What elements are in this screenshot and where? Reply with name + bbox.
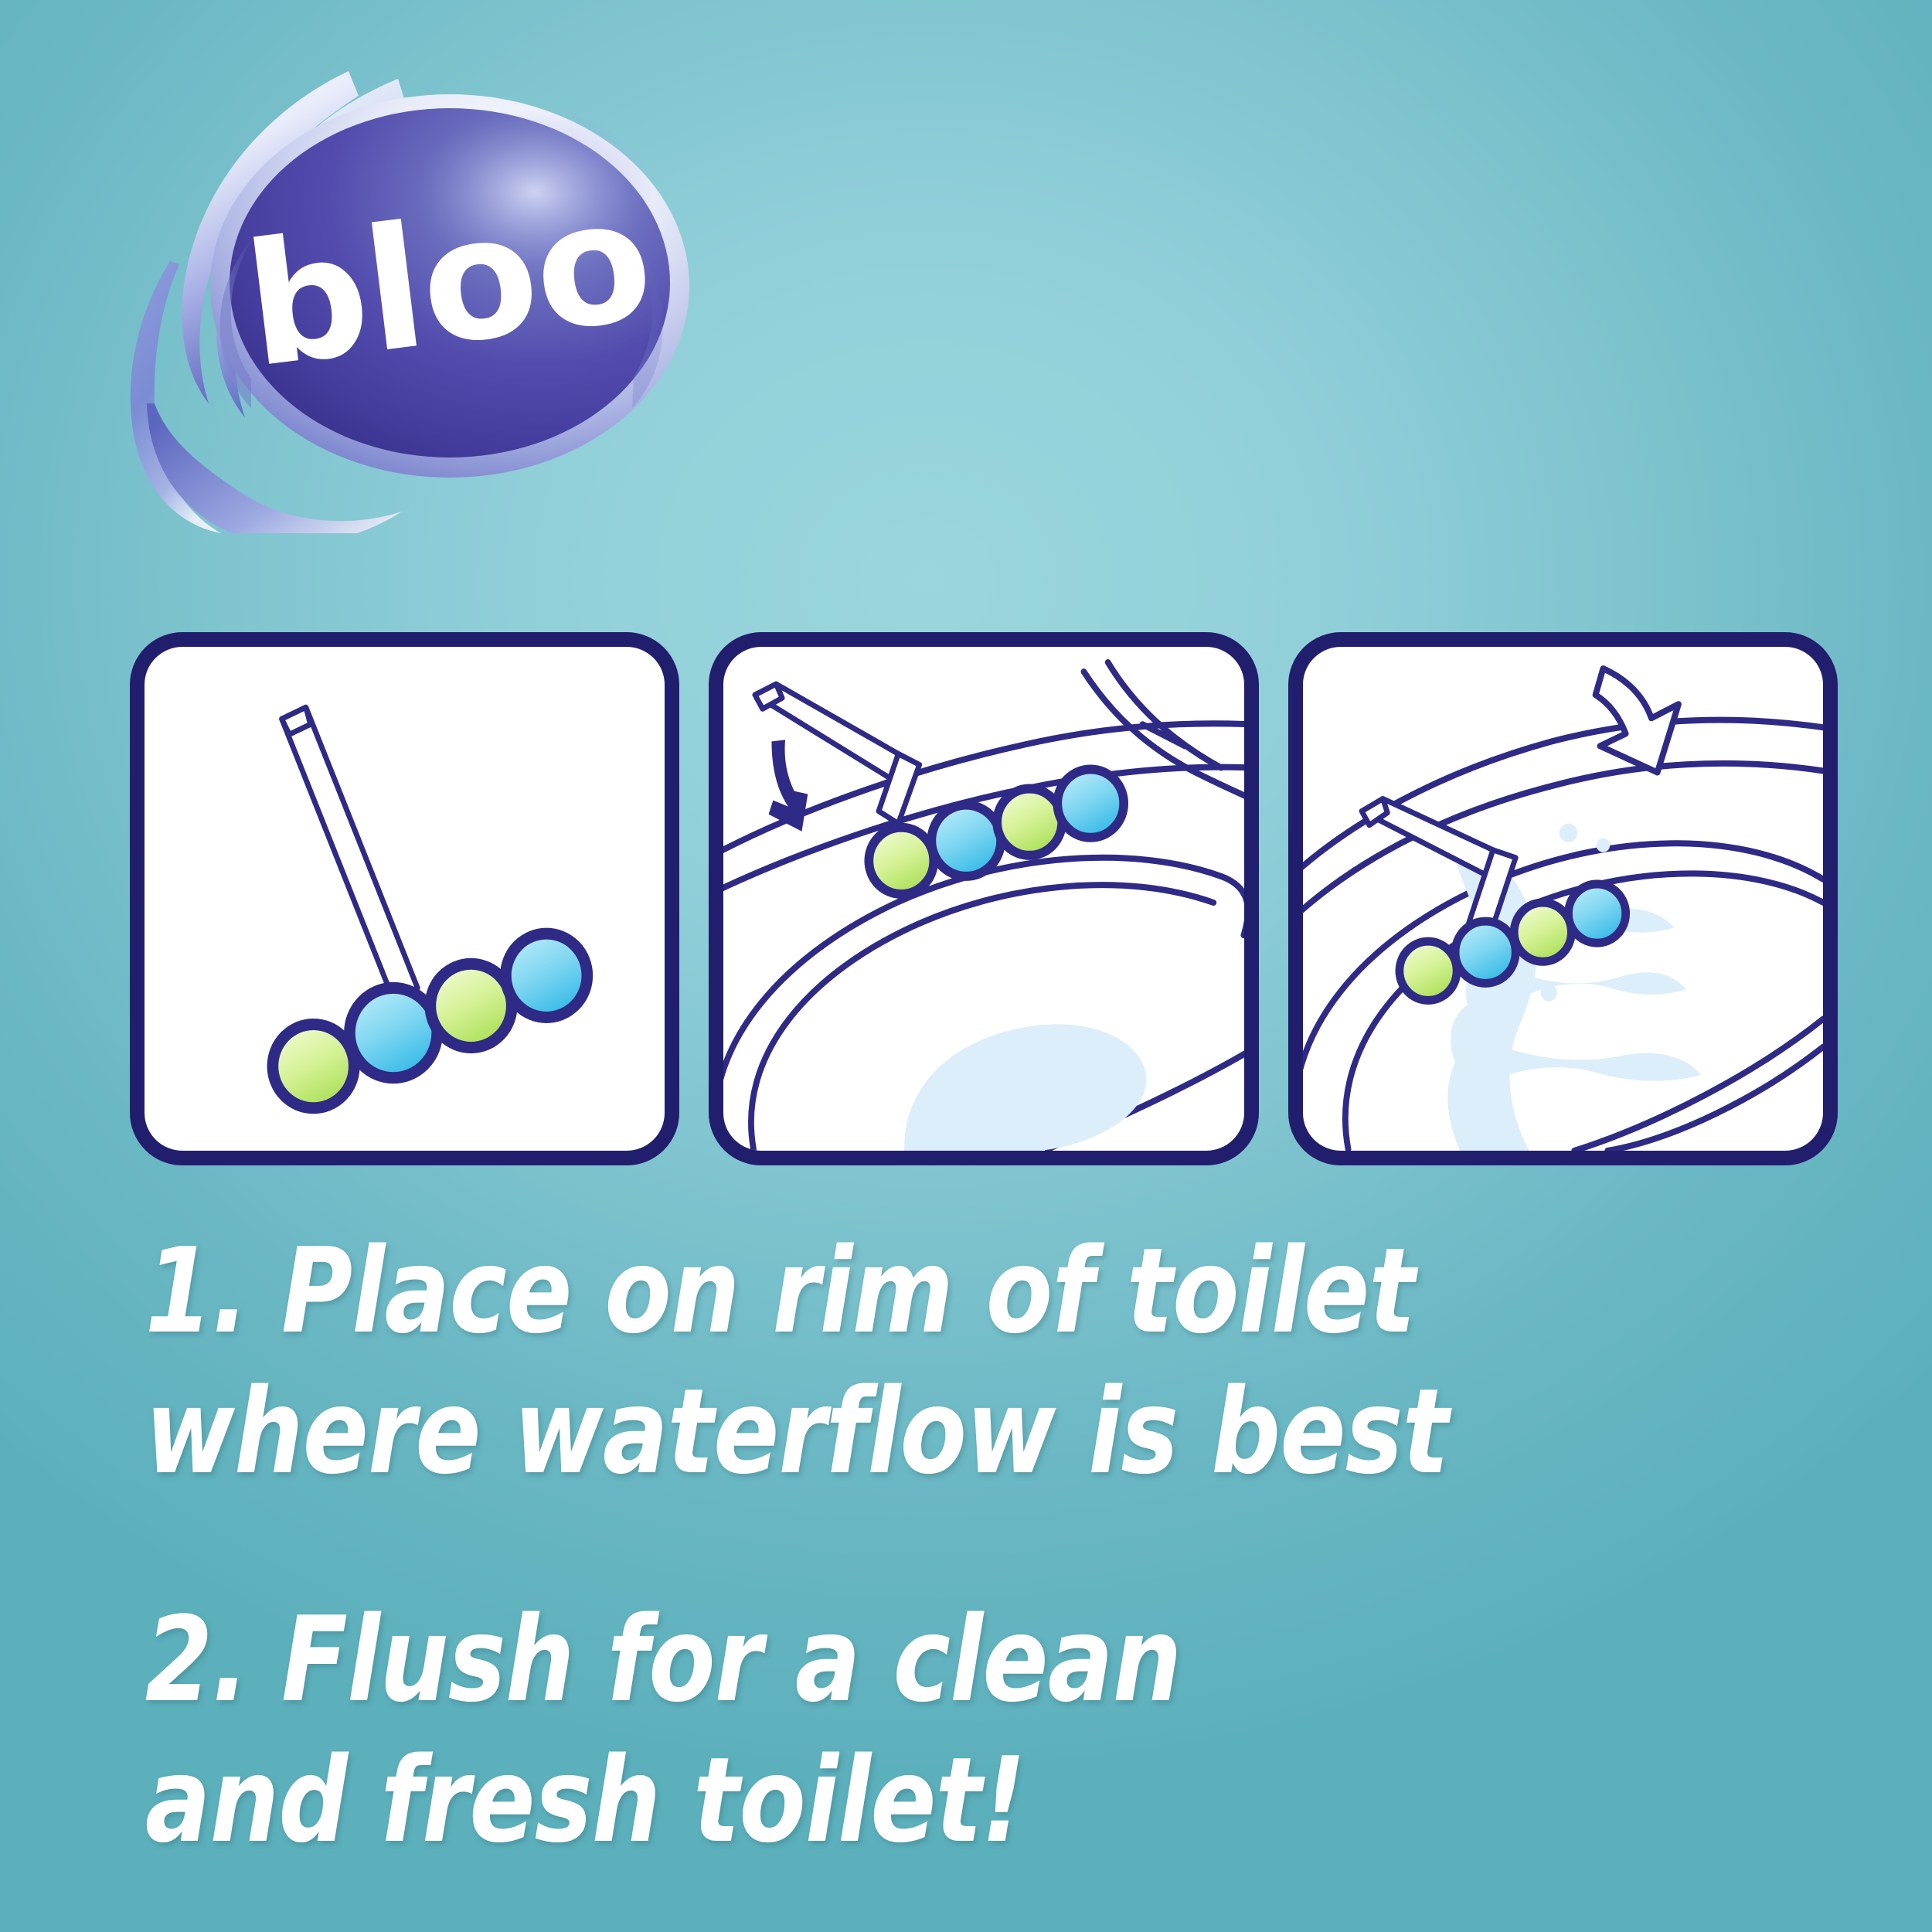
instruction-steps: 1. Place on rim of toilet where waterflo… (0, 1221, 1932, 1872)
step-2-text: 2. Flush for a clean and fresh toilet! (0, 1590, 1777, 1872)
down-arrow-icon (769, 740, 808, 831)
bowl-water-pool (904, 1024, 1146, 1151)
step-1-text: 1. Place on rim of toilet where waterflo… (0, 1221, 1777, 1503)
product-bead-chain (273, 934, 587, 1108)
panel-2-place-on-rim (709, 632, 1258, 1165)
product-hook-arm (282, 707, 418, 999)
poster-canvas: bloo (0, 0, 1932, 1932)
panel-3-flush (1288, 632, 1838, 1165)
instruction-panel-row (130, 632, 1838, 1165)
panel-1-product (130, 632, 679, 1165)
bloo-logo: bloo (93, 54, 742, 533)
product-hook-arm (1362, 799, 1515, 936)
curved-flush-arrow-icon (1595, 668, 1678, 772)
